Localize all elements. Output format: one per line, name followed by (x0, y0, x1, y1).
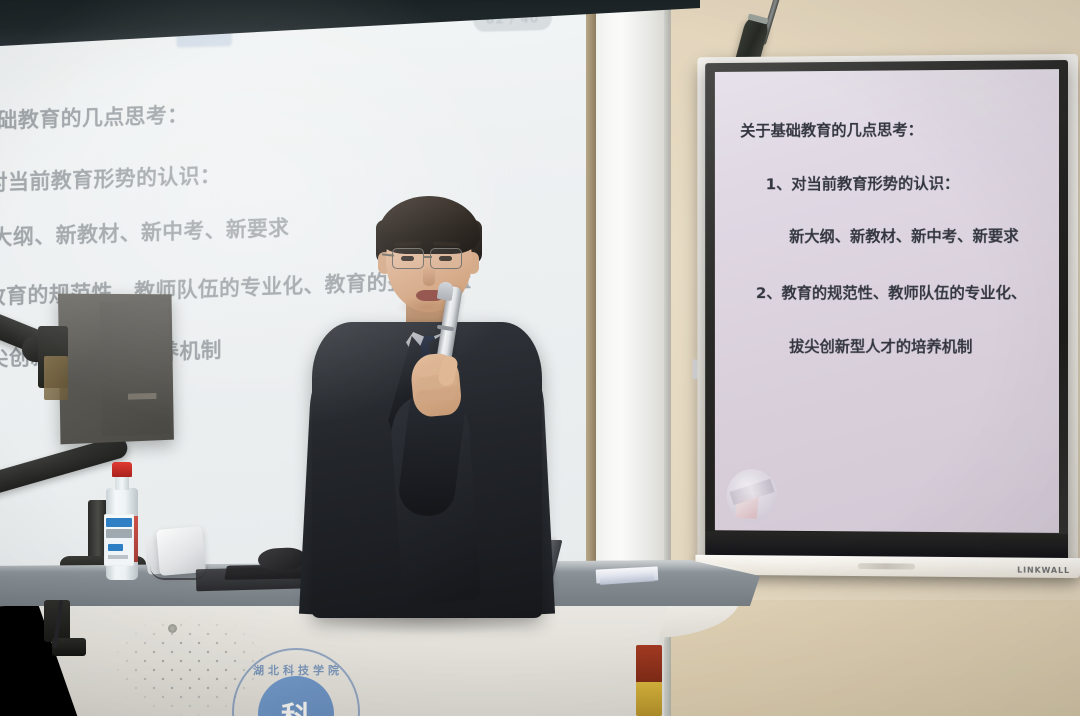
projection-line-title: 关于基础教育的几点思考： (0, 99, 188, 137)
bottle-label-band (106, 518, 132, 527)
bottle-label (104, 514, 134, 566)
presenter (300, 196, 550, 616)
bottle-label-text (106, 529, 132, 538)
water-bottle[interactable] (104, 462, 140, 580)
bottle-cap (112, 462, 132, 477)
panel-line-2: 2、教育的规范性、教师队伍的专业化、 (756, 281, 1027, 303)
panel-side-sensor (693, 359, 698, 379)
slide-watermark-logo (727, 469, 778, 523)
panel-control-strip[interactable] (858, 563, 915, 569)
panel-line-1a: 新大纲、新教材、新中考、新要求 (789, 224, 1019, 246)
monitor-on-arm (58, 294, 174, 445)
monitor-clamp-bracket (44, 356, 68, 400)
eyeglasses-bridge (423, 256, 432, 258)
panel-brand-label: LINKWALL (1017, 566, 1070, 575)
monitor-vent (128, 393, 156, 400)
projection-line-1a: 新大纲、新教材、新中考、新要求 (0, 212, 289, 253)
interactive-flat-panel[interactable]: 关于基础教育的几点思考： 1、对当前教育形势的认识： 新大纲、新教材、新中考、新… (705, 60, 1068, 560)
podium-lock-icon (168, 624, 177, 633)
floor-object-yellow (636, 682, 662, 716)
bottle-label-badge (108, 544, 123, 551)
projection-line-1: 1、对当前教育形势的认识： (0, 160, 221, 199)
lecture-hall-scene: 关于基础教育的几点思考： 1、对当前教育形势的认识： 新大纲、新教材、新中考、新… (0, 0, 1080, 716)
monitor-back-panel (99, 302, 170, 437)
panel-screen[interactable]: 关于基础教育的几点思考： 1、对当前教育形势的认识： 新大纲、新教材、新中考、新… (715, 69, 1059, 533)
projection-screen-frame-edge (586, 12, 596, 592)
pillar-seam (668, 0, 671, 560)
presenter-nose (423, 266, 435, 286)
eyeglasses-lens-left (392, 248, 424, 269)
panel-line-1: 1、对当前教育形势的认识： (766, 172, 960, 195)
bottle-neck (115, 476, 129, 490)
eyeglasses-lens-right (430, 248, 462, 269)
microphone-head (437, 281, 455, 301)
university-emblem-mark: 科 (281, 704, 311, 716)
floor-object-red (636, 645, 662, 683)
panel-line-2a: 拔尖创新型人才的培养机制 (789, 335, 972, 357)
panel-line-title: 关于基础教育的几点思考： (740, 118, 923, 141)
panel-bezel: 关于基础教育的几点思考： 1、对当前教育形势的认识： 新大纲、新教材、新中考、新… (705, 60, 1068, 560)
bottle-label-subtext (108, 555, 128, 559)
